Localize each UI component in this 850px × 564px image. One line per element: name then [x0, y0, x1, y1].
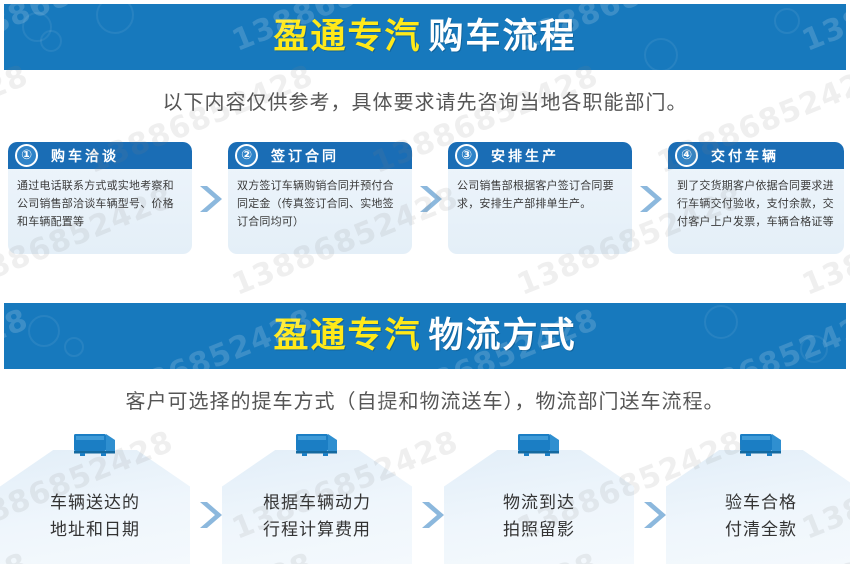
logistics-subtitle: 客户可选择的提车方式（自提和物流送车），物流部门送车流程。: [0, 385, 850, 414]
logistics-card-line1-1: 车辆送达的: [50, 490, 140, 517]
logistics-card-3[interactable]: 物流到达 拍照留影: [444, 450, 634, 564]
step-body-1: 通过电话联系方式或实地考察和公司销售部洽谈车辆型号、价格和车辆配置等: [8, 169, 192, 230]
purchase-step-card-2[interactable]: ② 签订合同 双方签订车辆购销合同并预付合同定金（传真签订合同、实地签订合同均可…: [228, 142, 412, 254]
step-number-badge-1: ①: [15, 144, 38, 167]
step-body-3: 公司销售部根据客户签订合同要求，安排生产部排单生产。: [448, 169, 632, 213]
step-title-1: 购车洽谈: [51, 146, 119, 166]
step-body-4: 到了交货期客户依据合同要求进行车辆交付验收，支付余款，交付客户上户发票，车辆合格…: [668, 169, 844, 230]
step-header-1: ① 购车洽谈: [8, 142, 192, 169]
logistics-card-line1-2: 根据车辆动力: [263, 490, 371, 517]
logistics-card-4[interactable]: 验车合格 付清全款: [666, 450, 850, 564]
purchase-step-card-1[interactable]: ① 购车洽谈 通过电话联系方式或实地考察和公司销售部洽谈车辆型号、价格和车辆配置…: [8, 142, 192, 254]
logistics-banner-heading: 物流方式: [429, 319, 577, 354]
step-title-3: 安排生产: [491, 146, 559, 166]
purchase-banner-title: 盈通专汽 购车流程: [4, 4, 846, 70]
logistics-card-2[interactable]: 根据车辆动力 行程计算费用: [222, 450, 412, 564]
step-header-2: ② 签订合同: [228, 142, 412, 169]
logistics-card-line2-4: 付清全款: [725, 517, 797, 544]
purchase-banner-heading: 购车流程: [429, 20, 577, 55]
logistics-card-text-2: 根据车辆动力 行程计算费用: [222, 450, 412, 564]
logistics-card-line2-3: 拍照留影: [503, 517, 575, 544]
logistics-banner-brand: 盈通专汽: [273, 319, 421, 354]
step-number-badge-3: ③: [455, 144, 478, 167]
step-title-4: 交付车辆: [711, 146, 779, 166]
logistics-card-text-1: 车辆送达的 地址和日期: [0, 450, 190, 564]
step-header-4: ④ 交付车辆: [668, 142, 844, 169]
step-number-badge-2: ②: [235, 144, 258, 167]
purchase-step-card-3[interactable]: ③ 安排生产 公司销售部根据客户签订合同要求，安排生产部排单生产。: [448, 142, 632, 254]
purchase-step-card-4[interactable]: ④ 交付车辆 到了交货期客户依据合同要求进行车辆交付验收，支付余款，交付客户上户…: [668, 142, 844, 254]
step-body-2: 双方签订车辆购销合同并预付合同定金（传真签订合同、实地签订合同均可）: [228, 169, 412, 230]
purchase-banner: 盈通专汽 购车流程: [4, 4, 846, 70]
logistics-card-line1-3: 物流到达: [503, 490, 575, 517]
purchase-steps-row: ① 购车洽谈 通过电话联系方式或实地考察和公司销售部洽谈车辆型号、价格和车辆配置…: [0, 142, 850, 262]
logistics-cards-row: 车辆送达的 地址和日期 根据车辆动力 行程计算费用: [0, 432, 850, 564]
logistics-card-text-3: 物流到达 拍照留影: [444, 450, 634, 564]
logistics-card-text-4: 验车合格 付清全款: [666, 450, 850, 564]
step-header-3: ③ 安排生产: [448, 142, 632, 169]
logistics-card-line2-2: 行程计算费用: [263, 517, 371, 544]
logistics-banner: 盈通专汽 物流方式: [4, 303, 846, 369]
logistics-card-line1-4: 验车合格: [725, 490, 797, 517]
logistics-card-line2-1: 地址和日期: [50, 517, 140, 544]
purchase-banner-brand: 盈通专汽: [273, 20, 421, 55]
logistics-card-1[interactable]: 车辆送达的 地址和日期: [0, 450, 190, 564]
logistics-banner-title: 盈通专汽 物流方式: [4, 303, 846, 369]
step-title-2: 签订合同: [271, 146, 339, 166]
purchase-subtitle: 以下内容仅供参考，具体要求请先咨询当地各职能部门。: [0, 86, 850, 115]
step-number-badge-4: ④: [675, 144, 698, 167]
